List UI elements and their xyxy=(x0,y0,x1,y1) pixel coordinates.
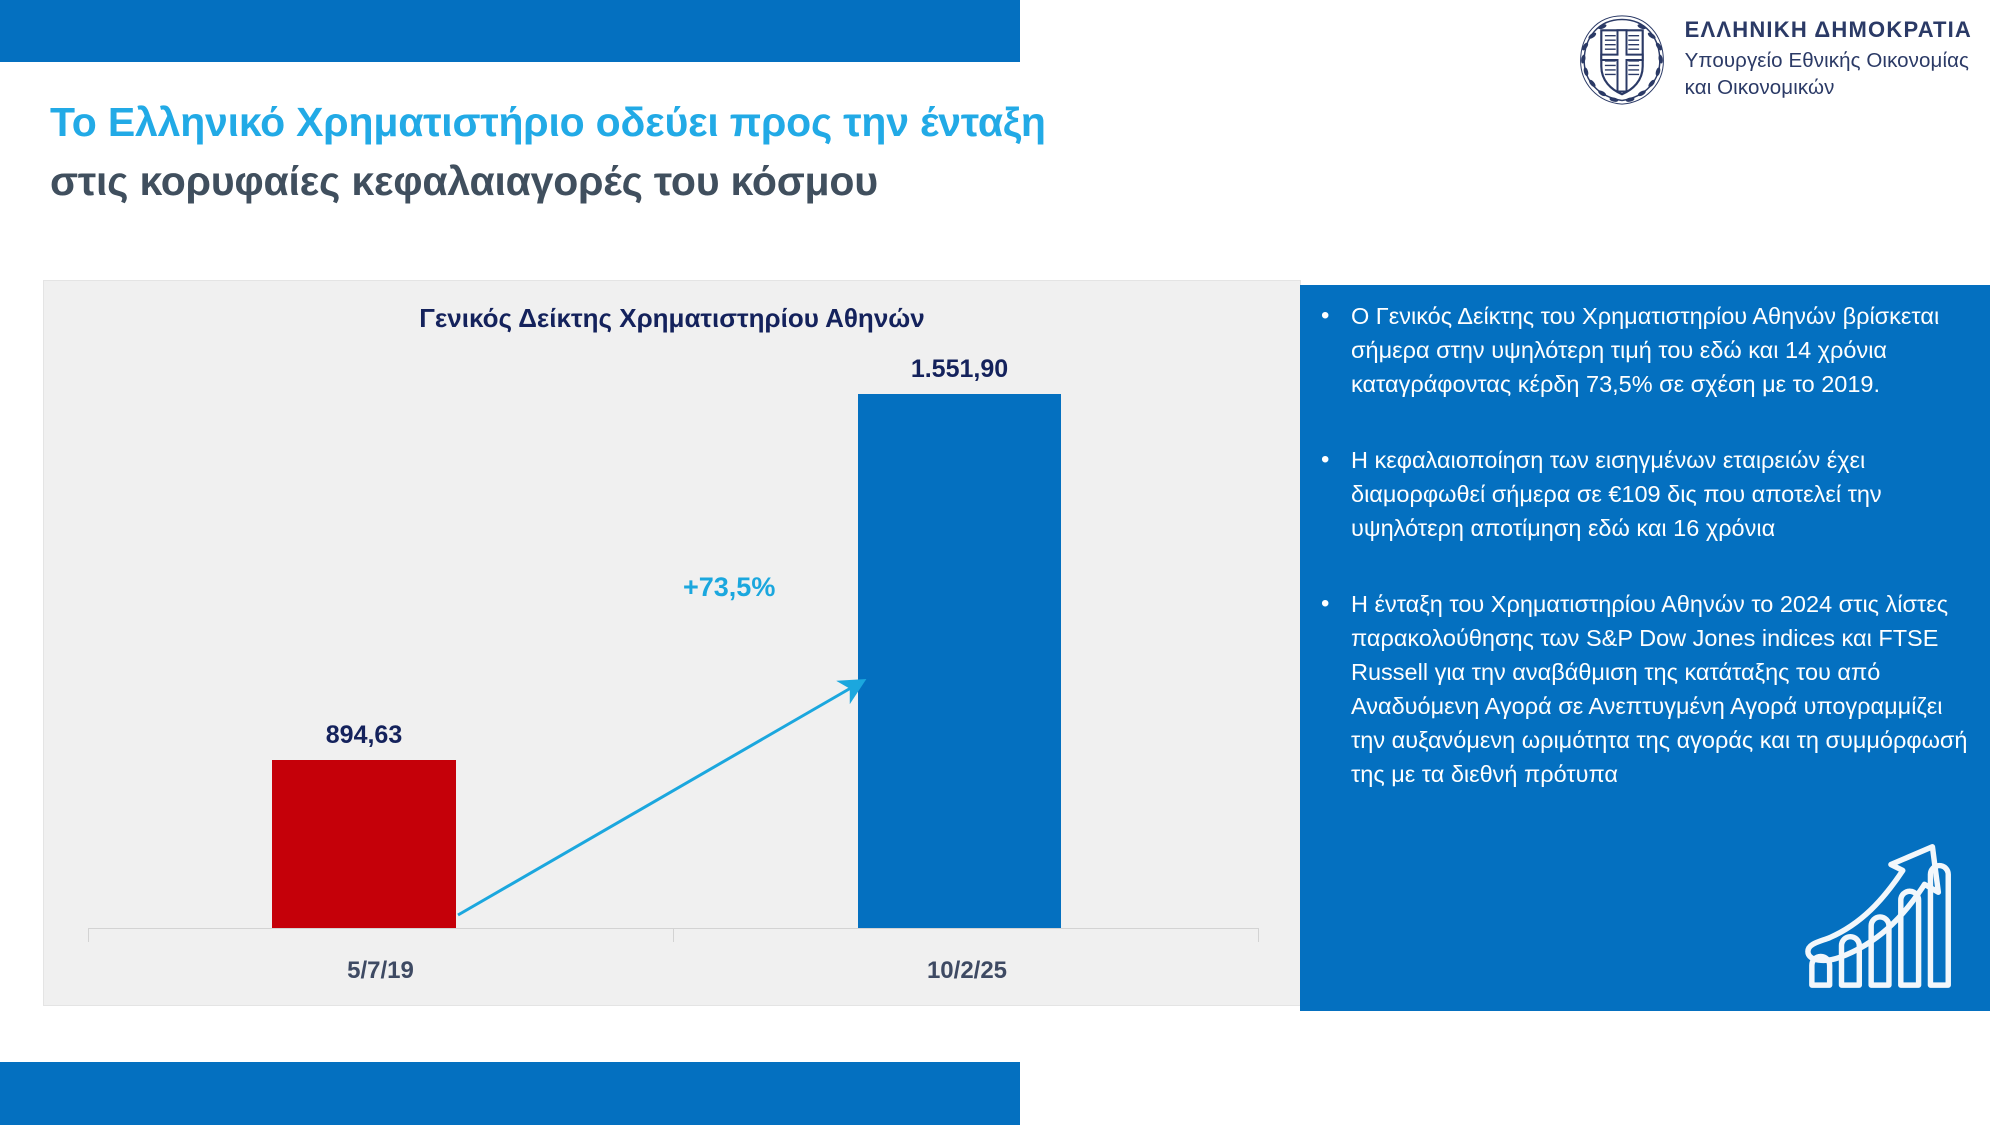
bar-value-label-10-2-25: 1.551,90 xyxy=(858,355,1061,384)
top-accent-band xyxy=(0,0,1020,62)
growth-bar-chart-arrow-icon xyxy=(1800,827,1968,995)
growth-arrow-icon xyxy=(344,581,964,921)
list-item-text: Η κεφαλαιοποίηση των εισηγμένων εταιρειώ… xyxy=(1351,443,1976,545)
greek-coat-of-arms-icon xyxy=(1577,14,1667,106)
ministry-logo-subtitle-line-1: Υπουργείο Εθνικής Οικονομίας xyxy=(1685,48,1972,74)
list-item-text: Ο Γενικός Δείκτης του Χρηματιστηρίου Αθη… xyxy=(1351,299,1976,401)
list-item: • Η κεφαλαιοποίηση των εισηγμένων εταιρε… xyxy=(1317,443,1976,545)
ministry-logo-title: ΕΛΛΗΝΙΚΗ ΔΗΜΟΚΡΑΤΙΑ xyxy=(1685,19,1972,41)
list-item: • Ο Γενικός Δείκτης του Χρηματιστηρίου Α… xyxy=(1317,299,1976,401)
ministry-logo-subtitle-line-2: και Οικονομικών xyxy=(1685,75,1972,101)
bullet-marker-icon: • xyxy=(1317,299,1351,333)
x-axis-label-1: 10/2/25 xyxy=(673,957,1261,985)
info-panel: • Ο Γενικός Δείκτης του Χρηματιστηρίου Α… xyxy=(1300,285,1990,1011)
list-item-text: Η ένταξη του Χρηματιστηρίου Αθηνών το 20… xyxy=(1351,587,1976,791)
page-title-line-1: Το Ελληνικό Χρηματιστήριο οδεύει προς τη… xyxy=(50,96,1350,149)
chart-panel: Γενικός Δείκτης Χρηματιστηρίου Αθηνών 89… xyxy=(43,280,1301,1006)
page-title-line-2: στις κορυφαίες κεφαλαιαγορές του κόσμου xyxy=(50,155,1350,208)
list-item: • Η ένταξη του Χρηματιστηρίου Αθηνών το … xyxy=(1317,587,1976,791)
chart-plot-area: 894,63 1.551,90 +73,5% 5/7/19 10/2/25 xyxy=(44,281,1300,1005)
bottom-accent-band xyxy=(0,1062,1020,1125)
x-axis-tick-right xyxy=(1258,928,1259,942)
bullet-marker-icon: • xyxy=(1317,587,1351,621)
info-bullet-list: • Ο Γενικός Δείκτης του Χρηματιστηρίου Α… xyxy=(1317,299,1976,833)
x-axis-tick-left xyxy=(88,928,89,942)
ministry-logo-text: ΕΛΛΗΝΙΚΗ ΔΗΜΟΚΡΑΤΙΑ Υπουργείο Εθνικής Οι… xyxy=(1685,19,1972,100)
x-axis-tick-middle xyxy=(673,928,674,942)
growth-percent-label: +73,5% xyxy=(683,572,775,603)
page-title: Το Ελληνικό Χρηματιστήριο οδεύει προς τη… xyxy=(50,96,1350,209)
x-axis-label-0: 5/7/19 xyxy=(88,957,673,985)
ministry-logo: ΕΛΛΗΝΙΚΗ ΔΗΜΟΚΡΑΤΙΑ Υπουργείο Εθνικής Οι… xyxy=(1577,14,1972,106)
bullet-marker-icon: • xyxy=(1317,443,1351,477)
